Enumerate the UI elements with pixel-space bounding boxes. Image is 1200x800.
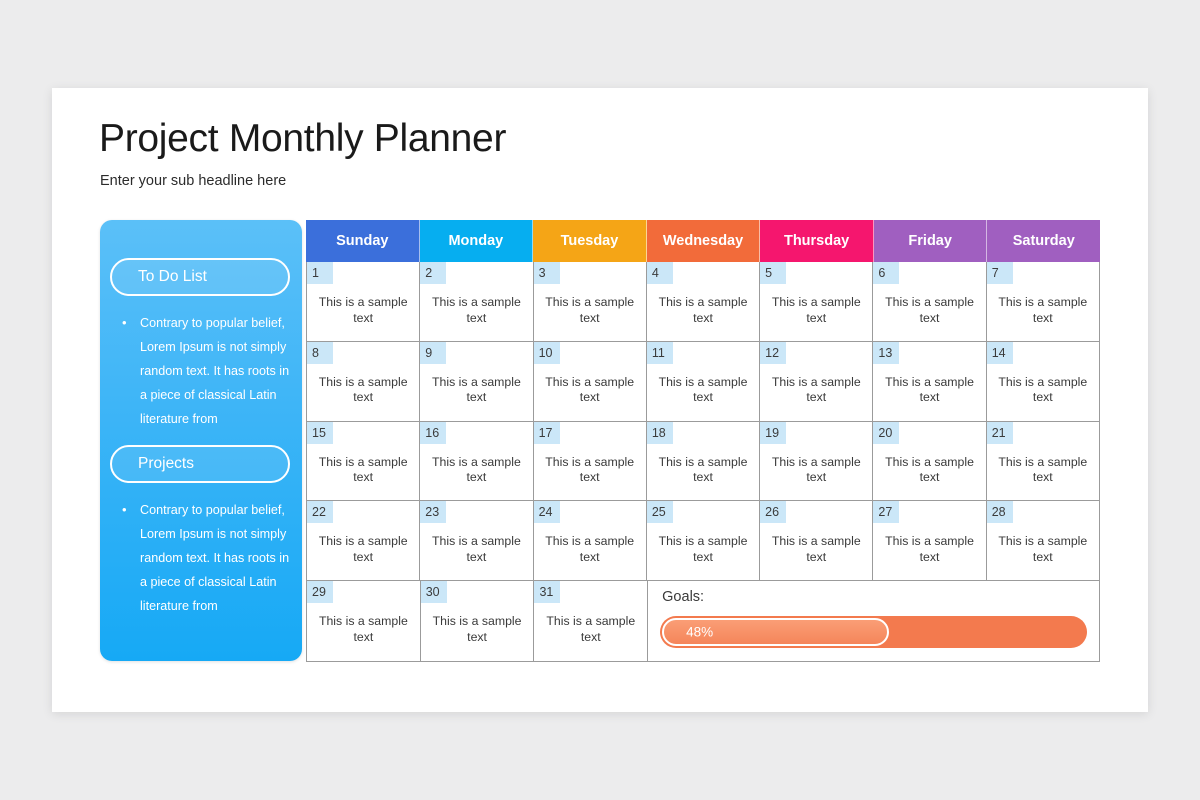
date-badge: 8: [307, 342, 333, 364]
date-badge: 18: [647, 422, 673, 444]
date-badge: 30: [421, 581, 447, 603]
calendar-week-row: 1This is a sample text2This is a sample …: [307, 262, 1099, 342]
day-note-text: This is a sample text: [879, 375, 979, 406]
calendar-day-cell[interactable]: 18This is a sample text: [647, 422, 760, 502]
calendar-body: 1This is a sample text2This is a sample …: [306, 262, 1100, 662]
calendar-header-thursday[interactable]: Thursday: [760, 220, 874, 262]
calendar-header-label: Wednesday: [663, 233, 743, 249]
calendar-day-cell[interactable]: 26This is a sample text: [760, 501, 873, 581]
calendar-day-cell[interactable]: 11This is a sample text: [647, 342, 760, 422]
day-note-text: This is a sample text: [879, 534, 979, 565]
date-badge: 6: [873, 262, 899, 284]
date-badge: 26: [760, 501, 786, 523]
date-badge: 2: [420, 262, 446, 284]
calendar-day-cell[interactable]: 1This is a sample text: [307, 262, 420, 342]
calendar-day-cell[interactable]: 12This is a sample text: [760, 342, 873, 422]
calendar-header-row: SundayMondayTuesdayWednesdayThursdayFrid…: [306, 220, 1100, 262]
bullet-icon: •: [122, 311, 140, 335]
calendar-week-row: 8This is a sample text9This is a sample …: [307, 342, 1099, 422]
calendar-header-tuesday[interactable]: Tuesday: [533, 220, 647, 262]
day-note-text: This is a sample text: [653, 534, 753, 565]
day-note-text: This is a sample text: [766, 295, 866, 326]
sidebar-body-text: Contrary to popular belief, Lorem Ipsum …: [140, 311, 292, 431]
calendar-day-cell[interactable]: 5This is a sample text: [760, 262, 873, 342]
calendar-day-cell[interactable]: 23This is a sample text: [420, 501, 533, 581]
goals-progress-track[interactable]: 48%: [660, 616, 1087, 648]
calendar-day-cell[interactable]: 9This is a sample text: [420, 342, 533, 422]
day-note-text: This is a sample text: [879, 295, 979, 326]
date-badge: 9: [420, 342, 446, 364]
sidebar-text-to-do-list: • Contrary to popular belief, Lorem Ipsu…: [122, 311, 294, 431]
day-note-text: This is a sample text: [540, 534, 640, 565]
sidebar-pill-projects[interactable]: Projects: [110, 445, 290, 483]
calendar-week-row: 29This is a sample text30This is a sampl…: [307, 581, 1099, 661]
goals-section: Goals:48%: [648, 581, 1099, 661]
sidebar-pill-to-do-list[interactable]: To Do List: [110, 258, 290, 296]
calendar-week-row: 15This is a sample text16This is a sampl…: [307, 422, 1099, 502]
calendar-day-cell[interactable]: 17This is a sample text: [534, 422, 647, 502]
day-note-text: This is a sample text: [313, 614, 414, 645]
page-subtitle: Enter your sub headline here: [100, 173, 286, 189]
date-badge: 22: [307, 501, 333, 523]
day-note-text: This is a sample text: [766, 375, 866, 406]
day-note-text: This is a sample text: [993, 375, 1093, 406]
calendar-day-cell[interactable]: 4This is a sample text: [647, 262, 760, 342]
calendar-day-cell[interactable]: 31This is a sample text: [534, 581, 648, 661]
day-note-text: This is a sample text: [540, 375, 640, 406]
calendar-day-cell[interactable]: 3This is a sample text: [534, 262, 647, 342]
calendar-day-cell[interactable]: 20This is a sample text: [873, 422, 986, 502]
calendar-header-label: Tuesday: [561, 233, 619, 249]
calendar-day-cell[interactable]: 25This is a sample text: [647, 501, 760, 581]
date-badge: 25: [647, 501, 673, 523]
page-title: Project Monthly Planner: [99, 117, 506, 161]
goals-progress-fill: 48%: [662, 618, 889, 646]
calendar-day-cell[interactable]: 21This is a sample text: [987, 422, 1099, 502]
day-note-text: This is a sample text: [426, 295, 526, 326]
calendar-header-label: Saturday: [1013, 233, 1075, 249]
sidebar-pill-label: Projects: [138, 455, 194, 473]
calendar-day-cell[interactable]: 13This is a sample text: [873, 342, 986, 422]
sidebar-body-text: Contrary to popular belief, Lorem Ipsum …: [140, 498, 292, 618]
calendar-day-cell[interactable]: 19This is a sample text: [760, 422, 873, 502]
day-note-text: This is a sample text: [653, 295, 753, 326]
calendar-day-cell[interactable]: 10This is a sample text: [534, 342, 647, 422]
date-badge: 4: [647, 262, 673, 284]
calendar-header-sunday[interactable]: Sunday: [306, 220, 420, 262]
calendar: SundayMondayTuesdayWednesdayThursdayFrid…: [306, 220, 1100, 661]
calendar-day-cell[interactable]: 16This is a sample text: [420, 422, 533, 502]
calendar-day-cell[interactable]: 14This is a sample text: [987, 342, 1099, 422]
date-badge: 12: [760, 342, 786, 364]
goals-label: Goals:: [662, 589, 704, 605]
date-badge: 31: [534, 581, 560, 603]
calendar-week-row: 22This is a sample text23This is a sampl…: [307, 501, 1099, 581]
calendar-day-cell[interactable]: 30This is a sample text: [421, 581, 535, 661]
calendar-day-cell[interactable]: 6This is a sample text: [873, 262, 986, 342]
calendar-day-cell[interactable]: 28This is a sample text: [987, 501, 1099, 581]
calendar-day-cell[interactable]: 24This is a sample text: [534, 501, 647, 581]
calendar-day-cell[interactable]: 22This is a sample text: [307, 501, 420, 581]
calendar-header-monday[interactable]: Monday: [420, 220, 534, 262]
day-note-text: This is a sample text: [313, 375, 413, 406]
date-badge: 3: [534, 262, 560, 284]
bullet-icon: •: [122, 498, 140, 522]
date-badge: 13: [873, 342, 899, 364]
date-badge: 16: [420, 422, 446, 444]
day-note-text: This is a sample text: [993, 455, 1093, 486]
calendar-header-wednesday[interactable]: Wednesday: [647, 220, 761, 262]
day-note-text: This is a sample text: [540, 295, 640, 326]
day-note-text: This is a sample text: [766, 455, 866, 486]
date-badge: 11: [647, 342, 673, 364]
calendar-header-saturday[interactable]: Saturday: [987, 220, 1100, 262]
date-badge: 29: [307, 581, 333, 603]
date-badge: 27: [873, 501, 899, 523]
date-badge: 5: [760, 262, 786, 284]
day-note-text: This is a sample text: [766, 534, 866, 565]
day-note-text: This is a sample text: [653, 455, 753, 486]
day-note-text: This is a sample text: [313, 295, 413, 326]
day-note-text: This is a sample text: [540, 455, 640, 486]
calendar-header-label: Friday: [908, 233, 952, 249]
date-badge: 24: [534, 501, 560, 523]
day-note-text: This is a sample text: [426, 534, 526, 565]
date-badge: 1: [307, 262, 333, 284]
date-badge: 23: [420, 501, 446, 523]
calendar-header-label: Sunday: [336, 233, 388, 249]
date-badge: 17: [534, 422, 560, 444]
day-note-text: This is a sample text: [426, 455, 526, 486]
day-note-text: This is a sample text: [540, 614, 641, 645]
date-badge: 15: [307, 422, 333, 444]
date-badge: 14: [987, 342, 1013, 364]
calendar-header-label: Monday: [448, 233, 503, 249]
slide-canvas: Project Monthly Planner Enter your sub h…: [52, 88, 1148, 712]
sidebar-pill-label: To Do List: [138, 268, 207, 286]
day-note-text: This is a sample text: [427, 614, 528, 645]
date-badge: 20: [873, 422, 899, 444]
day-note-text: This is a sample text: [426, 375, 526, 406]
date-badge: 28: [987, 501, 1013, 523]
sidebar-panel: To Do List • Contrary to popular belief,…: [100, 220, 302, 661]
date-badge: 7: [987, 262, 1013, 284]
date-badge: 10: [534, 342, 560, 364]
date-badge: 21: [987, 422, 1013, 444]
day-note-text: This is a sample text: [313, 534, 413, 565]
calendar-day-cell[interactable]: 15This is a sample text: [307, 422, 420, 502]
day-note-text: This is a sample text: [993, 534, 1093, 565]
sidebar-text-projects: • Contrary to popular belief, Lorem Ipsu…: [122, 498, 294, 618]
calendar-day-cell[interactable]: 2This is a sample text: [420, 262, 533, 342]
day-note-text: This is a sample text: [653, 375, 753, 406]
goals-progress-value: 48%: [686, 625, 713, 640]
calendar-header-label: Thursday: [784, 233, 849, 249]
calendar-day-cell[interactable]: 7This is a sample text: [987, 262, 1099, 342]
day-note-text: This is a sample text: [993, 295, 1093, 326]
calendar-header-friday[interactable]: Friday: [874, 220, 988, 262]
date-badge: 19: [760, 422, 786, 444]
calendar-day-cell[interactable]: 27This is a sample text: [873, 501, 986, 581]
calendar-day-cell[interactable]: 8This is a sample text: [307, 342, 420, 422]
day-note-text: This is a sample text: [313, 455, 413, 486]
day-note-text: This is a sample text: [879, 455, 979, 486]
calendar-day-cell[interactable]: 29This is a sample text: [307, 581, 421, 661]
